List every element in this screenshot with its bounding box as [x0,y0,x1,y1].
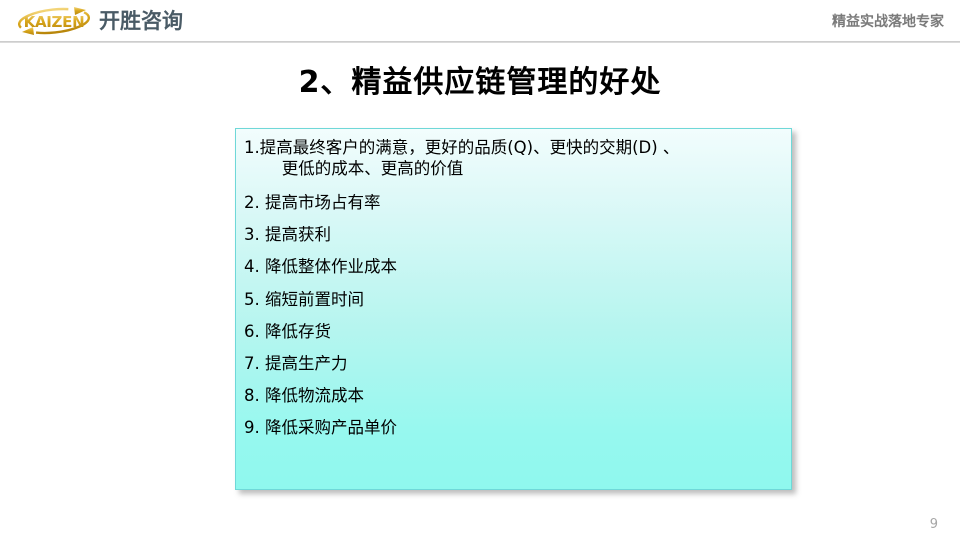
kaizen-swoosh-logo-icon: KAIZEN [14,5,94,37]
brand-logo-chinese-text: 开胜咨询 [99,11,183,32]
benefits-list: 1.提高最终客户的满意，更好的品质(Q)、更快的交期(D) 、 更低的成本、更高… [244,137,781,438]
list-item: 1.提高最终客户的满意，更好的品质(Q)、更快的交期(D) 、 更低的成本、更高… [244,137,781,179]
page-number: 9 [930,517,938,532]
list-item: 4. 降低整体作业成本 [244,256,781,277]
list-item: 5. 缩短前置时间 [244,289,781,310]
list-item: 8. 降低物流成本 [244,385,781,406]
list-item: 2. 提高市场占有率 [244,192,781,213]
list-item: 9. 降低采购产品单价 [244,417,781,438]
list-item: 3. 提高获利 [244,224,781,245]
page-title: 2、精益供应链管理的好处 [0,57,960,101]
svg-text:KAIZEN: KAIZEN [24,13,85,31]
brand-logo: KAIZEN 开胜咨询 [14,4,183,38]
list-item: 7. 提高生产力 [244,353,781,374]
list-item: 6. 降低存货 [244,321,781,342]
header-divider [0,41,960,43]
slide-header: KAIZEN 开胜咨询 精益实战落地专家 [0,0,960,43]
benefits-content-box: 1.提高最终客户的满意，更好的品质(Q)、更快的交期(D) 、 更低的成本、更高… [235,128,792,490]
header-tagline: 精益实战落地专家 [832,11,944,31]
